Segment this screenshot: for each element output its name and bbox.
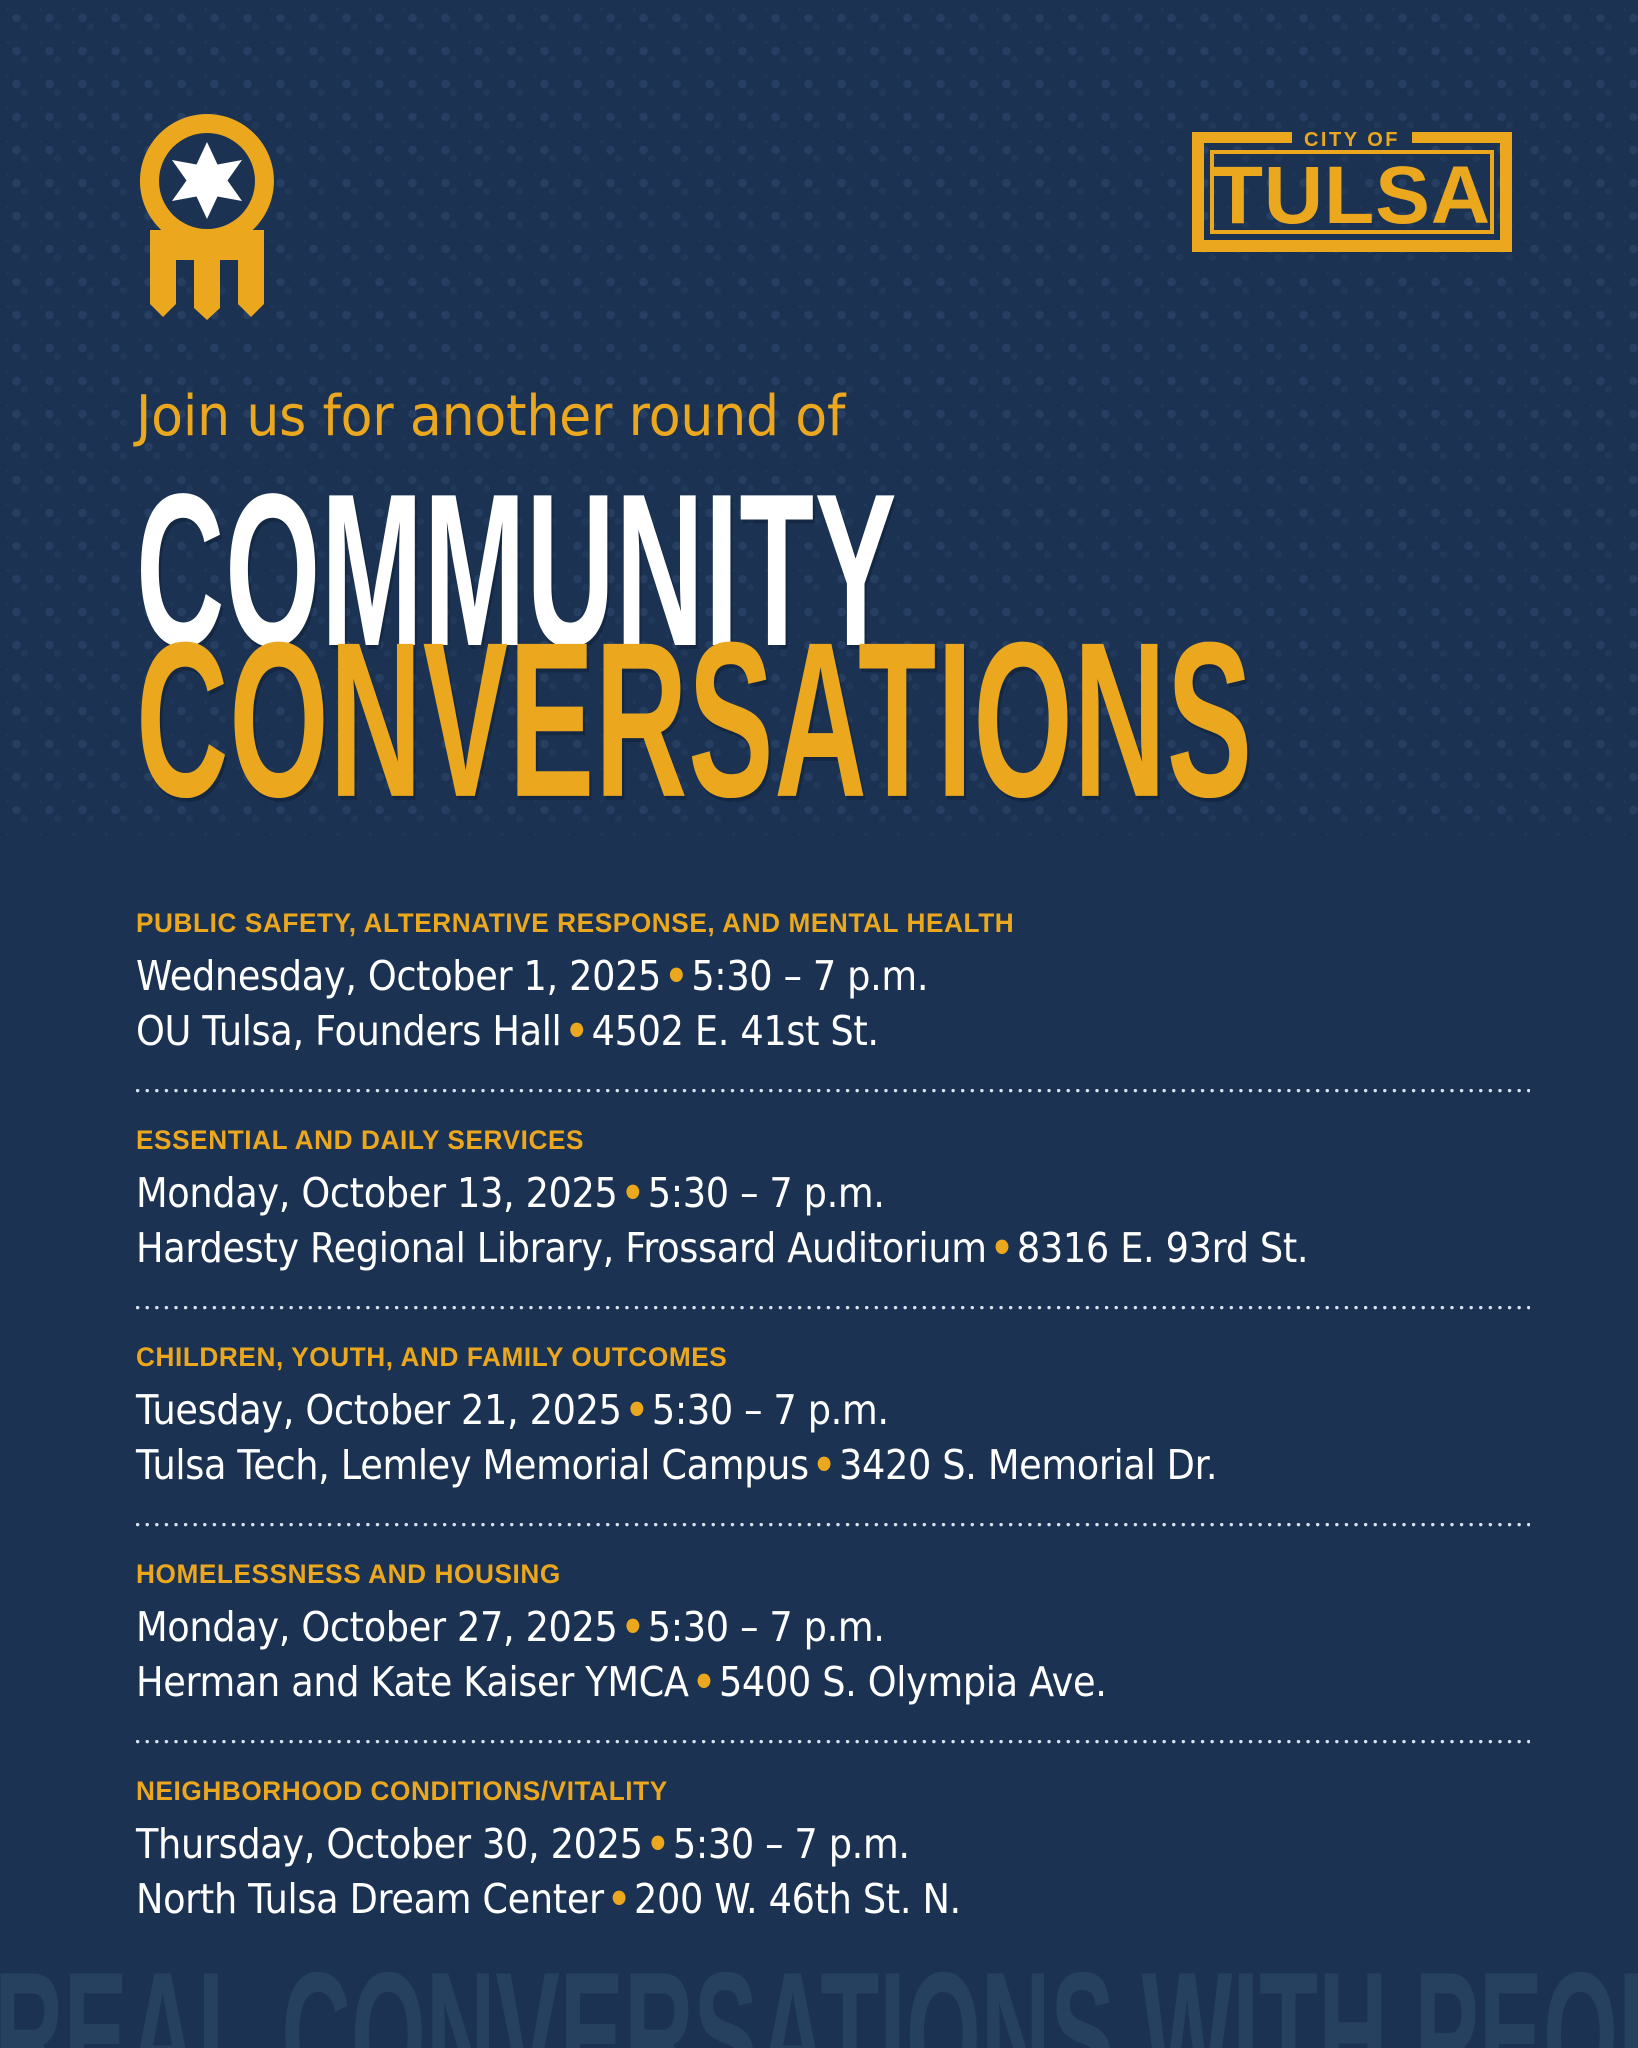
event-topic: NEIGHBORHOOD CONDITIONS/VITALITY xyxy=(136,1776,1488,1807)
city-of-tulsa-logo: CITY OF TULSA xyxy=(1190,128,1512,256)
event-venue: Tulsa Tech, Lemley Memorial Campus xyxy=(136,1441,809,1489)
event-item: PUBLIC SAFETY, ALTERNATIVE RESPONSE, AND… xyxy=(136,908,1530,1059)
event-time: 5:30 – 7 p.m. xyxy=(648,1603,885,1651)
event-date: Thursday, October 30, 2025 xyxy=(136,1820,643,1868)
event-address: 8316 E. 93rd St. xyxy=(1017,1224,1308,1272)
event-venue-line: North Tulsa Dream Center•200 W. 46th St.… xyxy=(136,1872,1384,1927)
event-datetime-line: Monday, October 13, 2025•5:30 – 7 p.m. xyxy=(136,1166,1384,1221)
event-date: Monday, October 27, 2025 xyxy=(136,1603,618,1651)
event-venue-line: OU Tulsa, Founders Hall•4502 E. 41st St. xyxy=(136,1004,1384,1059)
event-topic: PUBLIC SAFETY, ALTERNATIVE RESPONSE, AND… xyxy=(136,908,1488,939)
event-item: NEIGHBORHOOD CONDITIONS/VITALITY Thursda… xyxy=(136,1776,1530,1927)
bullet-separator-icon: • xyxy=(689,1658,719,1706)
event-venue-line: Hardesty Regional Library, Frossard Audi… xyxy=(136,1221,1384,1276)
event-divider xyxy=(136,1306,1530,1310)
event-topic: HOMELESSNESS AND HOUSING xyxy=(136,1559,1488,1590)
community-conversations-logo-icon xyxy=(128,112,286,320)
bullet-separator-icon: • xyxy=(561,1007,591,1055)
event-divider xyxy=(136,1523,1530,1527)
event-venue: Herman and Kate Kaiser YMCA xyxy=(136,1658,689,1706)
event-venue: OU Tulsa, Founders Hall xyxy=(136,1007,561,1055)
bullet-separator-icon: • xyxy=(618,1169,648,1217)
event-topic: CHILDREN, YOUTH, AND FAMILY OUTCOMES xyxy=(136,1342,1488,1373)
event-time: 5:30 – 7 p.m. xyxy=(691,952,928,1000)
event-list: PUBLIC SAFETY, ALTERNATIVE RESPONSE, AND… xyxy=(136,908,1530,1927)
event-address: 3420 S. Memorial Dr. xyxy=(839,1441,1217,1489)
eyebrow-text: Join us for another round of xyxy=(136,386,1457,448)
event-datetime-line: Tuesday, October 21, 2025•5:30 – 7 p.m. xyxy=(136,1383,1384,1438)
event-venue: Hardesty Regional Library, Frossard Audi… xyxy=(136,1224,987,1272)
bullet-separator-icon: • xyxy=(809,1441,839,1489)
event-divider xyxy=(136,1089,1530,1093)
event-venue: North Tulsa Dream Center xyxy=(136,1875,604,1923)
event-topic: ESSENTIAL AND DAILY SERVICES xyxy=(136,1125,1488,1156)
event-divider xyxy=(136,1740,1530,1744)
bullet-separator-icon: • xyxy=(661,952,691,1000)
event-item: CHILDREN, YOUTH, AND FAMILY OUTCOMES Tue… xyxy=(136,1342,1530,1493)
event-date: Monday, October 13, 2025 xyxy=(136,1169,618,1217)
event-address: 200 W. 46th St. N. xyxy=(634,1875,961,1923)
event-venue-line: Herman and Kate Kaiser YMCA•5400 S. Olym… xyxy=(136,1655,1384,1710)
bullet-separator-icon: • xyxy=(622,1386,652,1434)
bullet-separator-icon: • xyxy=(604,1875,634,1923)
event-datetime-line: Wednesday, October 1, 2025•5:30 – 7 p.m. xyxy=(136,949,1384,1004)
title-block: Join us for another round of COMMUNITY C… xyxy=(136,386,1556,780)
poster-canvas: CITY OF TULSA Join us for another round … xyxy=(0,0,1638,2048)
footer-tagline: REAL CONVERSATIONS WITH PEOPLE WHO SERVE… xyxy=(0,1946,1638,2048)
event-venue-line: Tulsa Tech, Lemley Memorial Campus•3420 … xyxy=(136,1438,1384,1493)
event-datetime-line: Monday, October 27, 2025•5:30 – 7 p.m. xyxy=(136,1600,1384,1655)
bullet-separator-icon: • xyxy=(618,1603,648,1651)
event-address: 4502 E. 41st St. xyxy=(592,1007,879,1055)
footer-ghost-strip: REAL CONVERSATIONS WITH PEOPLE WHO SERVE… xyxy=(0,1940,1638,2048)
event-item: HOMELESSNESS AND HOUSING Monday, October… xyxy=(136,1559,1530,1710)
tulsa-logo-city-of-text: CITY OF xyxy=(1304,129,1400,151)
event-date: Wednesday, October 1, 2025 xyxy=(136,952,661,1000)
bullet-separator-icon: • xyxy=(987,1224,1017,1272)
bullet-separator-icon: • xyxy=(643,1820,673,1868)
event-time: 5:30 – 7 p.m. xyxy=(673,1820,910,1868)
poster-header: CITY OF TULSA xyxy=(0,0,1638,360)
event-address: 5400 S. Olympia Ave. xyxy=(719,1658,1107,1706)
headline-conversations: CONVERSATIONS xyxy=(136,610,1205,831)
tulsa-logo-tulsa-text: TULSA xyxy=(1213,150,1491,241)
event-date: Tuesday, October 21, 2025 xyxy=(136,1386,622,1434)
event-item: ESSENTIAL AND DAILY SERVICES Monday, Oct… xyxy=(136,1125,1530,1276)
event-datetime-line: Thursday, October 30, 2025•5:30 – 7 p.m. xyxy=(136,1817,1384,1872)
event-time: 5:30 – 7 p.m. xyxy=(652,1386,889,1434)
event-time: 5:30 – 7 p.m. xyxy=(648,1169,885,1217)
